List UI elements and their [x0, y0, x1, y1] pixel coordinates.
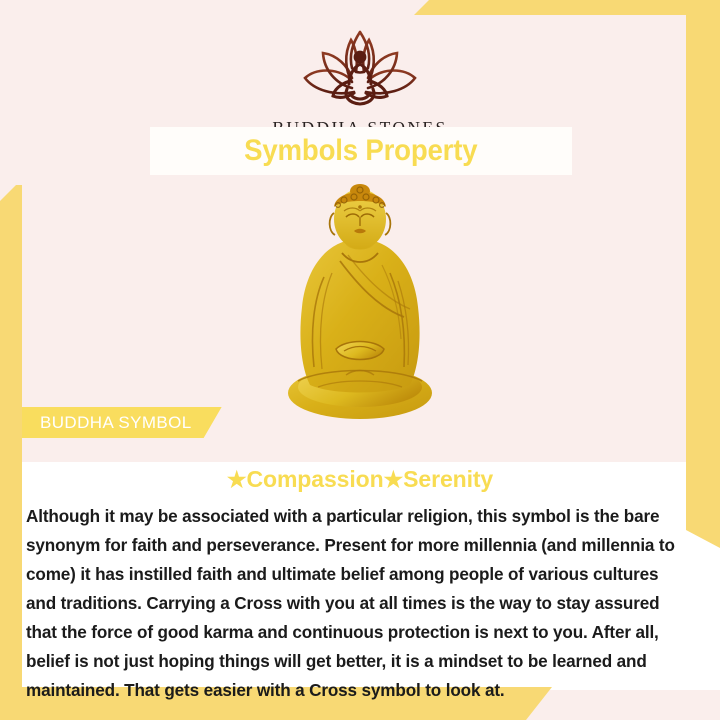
brand-logo: BUDDHA STONES [0, 26, 720, 139]
headline-word-2: Serenity [403, 466, 493, 492]
body-paragraph: Although it may be associated with a par… [26, 502, 684, 705]
decorative-band-top [414, 0, 720, 15]
ribbon-text: BUDDHA SYMBOL [40, 413, 192, 433]
star-icon-2: ★ [384, 467, 404, 492]
hero-ribbon-label: BUDDHA SYMBOL [22, 407, 222, 438]
title-banner: Symbols Property [150, 127, 572, 175]
lotus-meditation-icon [292, 26, 428, 112]
golden-buddha-statue-icon [262, 181, 458, 421]
decorative-band-left [0, 185, 22, 705]
poster-root: BUDDHA STONES Symbols Property [0, 0, 720, 720]
star-icon-1: ★ [227, 467, 247, 492]
headline-word-1: Compassion [247, 466, 384, 492]
hero-image [262, 181, 458, 421]
page-title: Symbols Property [244, 134, 477, 168]
section-headline: ★Compassion★Serenity [0, 466, 720, 493]
